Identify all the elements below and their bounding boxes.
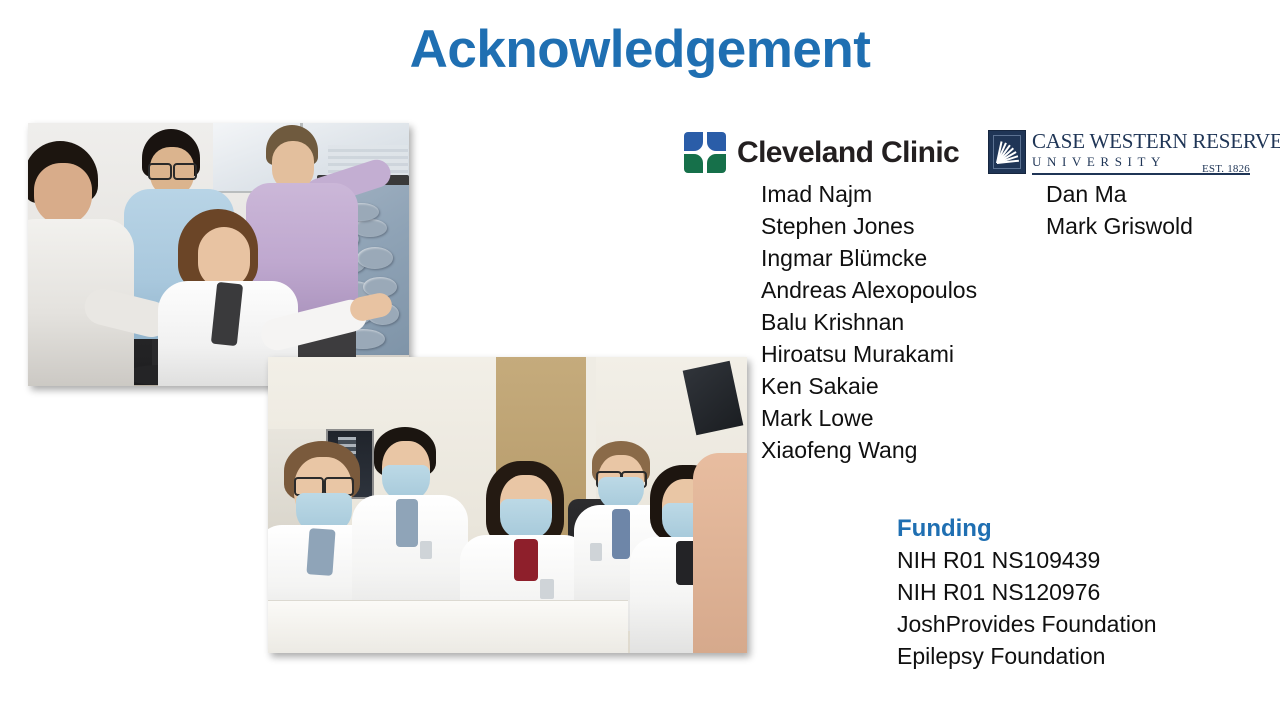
list-item: Mark Lowe: [761, 402, 977, 434]
list-item: Epilepsy Foundation: [897, 640, 1157, 672]
list-item: Balu Krishnan: [761, 306, 977, 338]
cleveland-clinic-people-list: Imad Najm Stephen Jones Ingmar Blümcke A…: [761, 178, 977, 466]
logo-quadrant-top-right: [707, 132, 726, 151]
funding-heading: Funding: [897, 514, 1157, 544]
list-item: Andreas Alexopoulos: [761, 274, 977, 306]
list-item: Ken Sakaie: [761, 370, 977, 402]
logo-quadrant-bottom-right: [707, 154, 726, 173]
case-western-sunburst-icon: [988, 130, 1026, 174]
eyeglasses-right-lens: [173, 163, 197, 180]
clinician-1-shirt-collar: [306, 528, 335, 576]
seated-researcher-face: [198, 227, 250, 289]
case-western-name-line: CASE WESTERN RESERVE: [1032, 130, 1250, 152]
list-item: Ingmar Blümcke: [761, 242, 977, 274]
clinician-3-surgical-mask: [500, 499, 552, 539]
photo-team-masked: [268, 357, 747, 653]
photo-team-masked-scene: [268, 357, 747, 653]
case-western-people-list: Dan Ma Mark Griswold: [1046, 178, 1193, 242]
clinician-2-id-badge: [420, 541, 432, 559]
photo-team-monitor: [28, 123, 409, 386]
list-item: Dan Ma: [1046, 178, 1193, 210]
logo-underline-rule: [1032, 173, 1250, 175]
list-item: Hiroatsu Murakami: [761, 338, 977, 370]
person-arm-foreground: [693, 453, 747, 653]
clinician-3-id-badge: [540, 579, 554, 599]
case-western-wordmark: CASE WESTERN RESERVE UNIVERSITY EST. 182…: [1032, 130, 1250, 173]
list-item: Mark Griswold: [1046, 210, 1193, 242]
list-item: NIH R01 NS109439: [897, 544, 1157, 576]
eyeglasses-left-lens: [148, 163, 172, 180]
clinician-4-id-badge: [590, 543, 602, 561]
brain-gyrus: [357, 247, 393, 269]
cleveland-clinic-wordmark: Cleveland Clinic: [737, 132, 959, 174]
case-western-university-line: UNIVERSITY: [1032, 154, 1166, 169]
cleveland-clinic-mark-icon: [684, 132, 728, 174]
funding-section: Funding NIH R01 NS109439 NIH R01 NS12097…: [897, 514, 1157, 672]
case-western-university-row: UNIVERSITY EST. 1826: [1032, 153, 1250, 173]
page-title: Acknowledgement: [0, 22, 1280, 78]
photo-team-monitor-scene: [28, 123, 409, 386]
clinician-4-necktie: [612, 509, 630, 559]
cleveland-clinic-logo: Cleveland Clinic: [684, 132, 959, 174]
list-item: Stephen Jones: [761, 210, 977, 242]
clinician-3-red-top: [514, 539, 538, 581]
conference-table: [268, 600, 628, 653]
list-item: NIH R01 NS120976: [897, 576, 1157, 608]
person-white-shirt-face: [34, 163, 92, 225]
logo-quadrant-top-left: [684, 132, 703, 151]
list-item: Xiaofeng Wang: [761, 434, 977, 466]
brain-gyrus: [353, 219, 387, 237]
funding-list: NIH R01 NS109439 NIH R01 NS120976 JoshPr…: [897, 544, 1157, 672]
list-item: JoshProvides Foundation: [897, 608, 1157, 640]
list-item: Imad Najm: [761, 178, 977, 210]
logo-quadrant-bottom-left: [684, 154, 703, 173]
clinician-2-shirt-collar: [396, 499, 418, 547]
